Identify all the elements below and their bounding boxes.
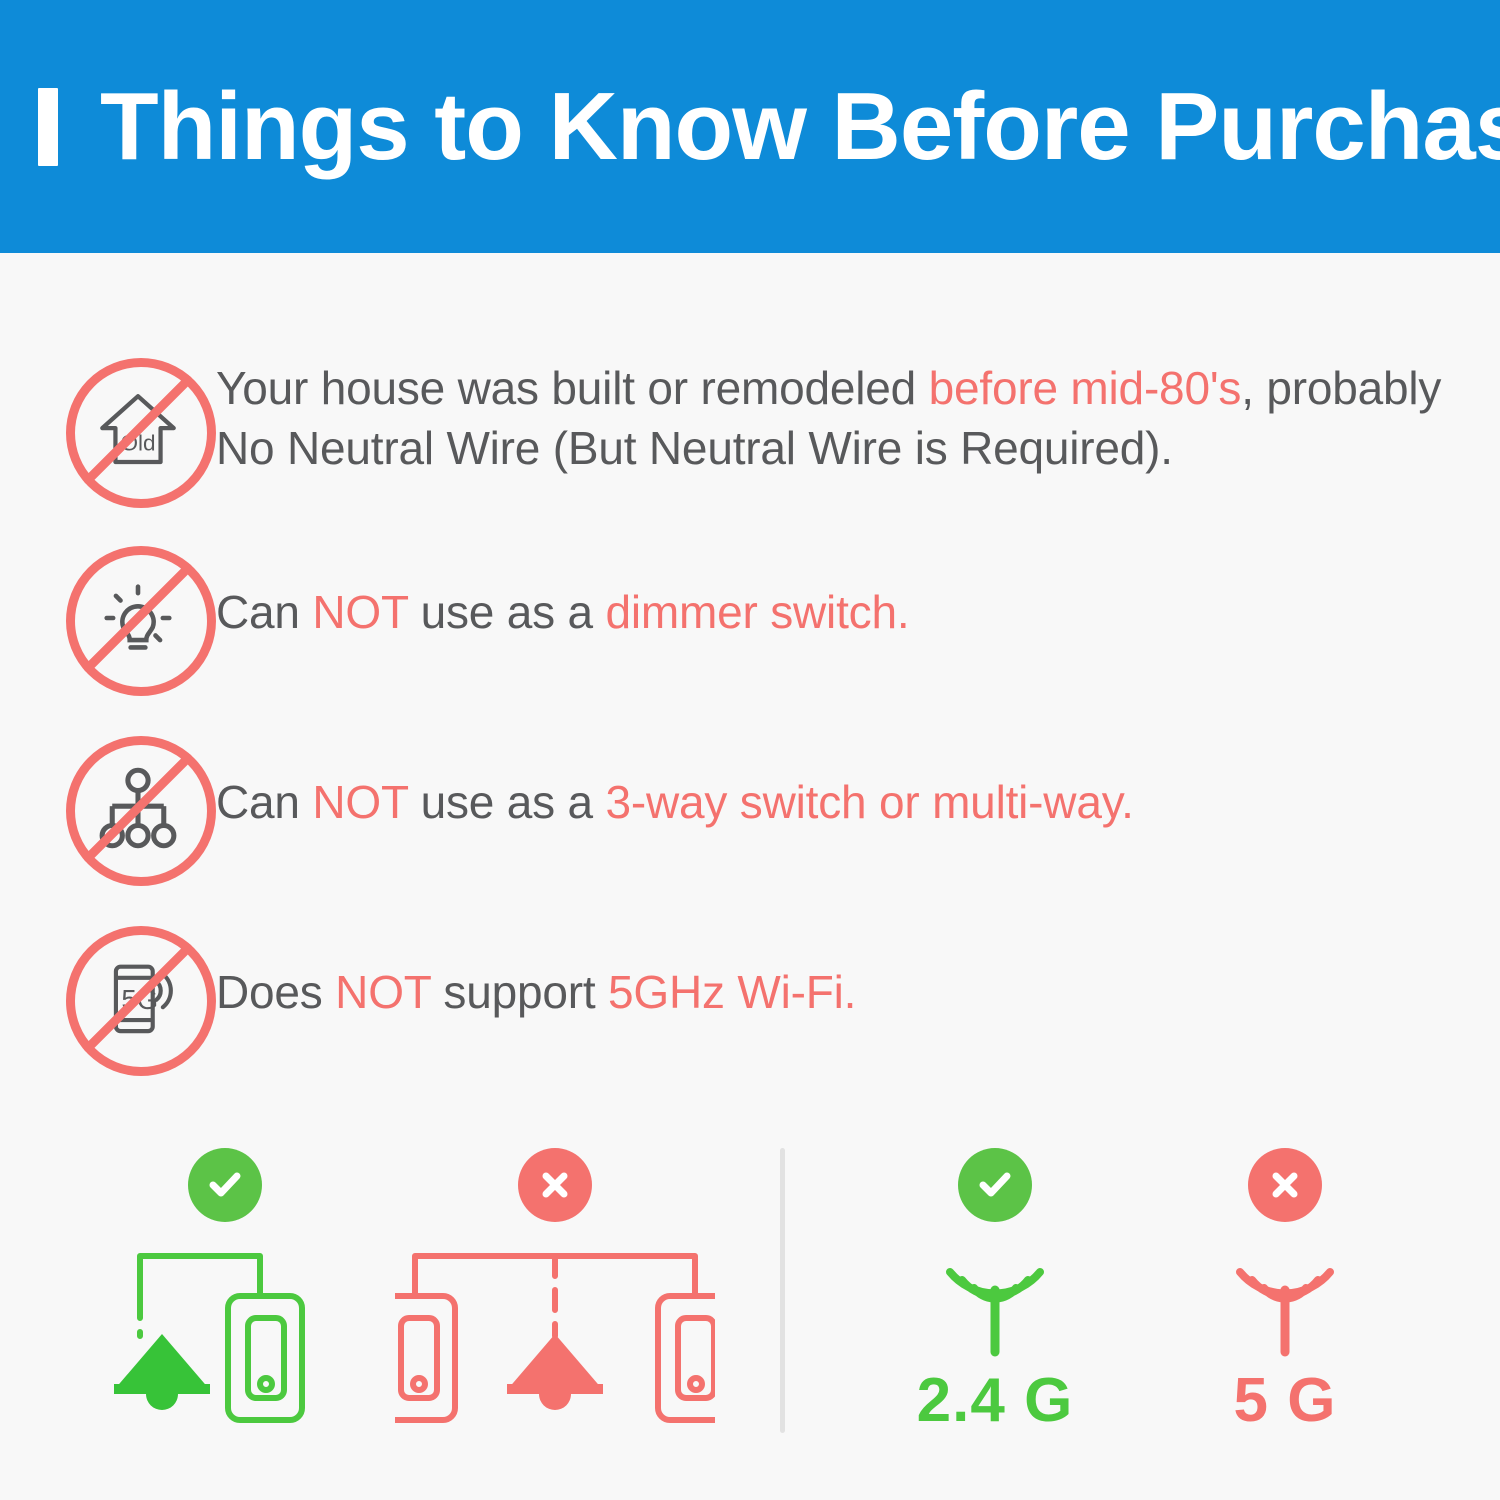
text-segment: Can: [216, 586, 312, 638]
wifi-24g-cell: 2.4 G: [880, 1148, 1110, 1432]
cross-circle-icon: [1248, 1148, 1322, 1222]
no-dimmer-bulb-icon: [60, 540, 216, 696]
prohibition-sign: [60, 352, 216, 508]
text-segment: Does: [216, 966, 335, 1018]
cross-glyph: [1263, 1163, 1307, 1207]
list-item-text: Your house was built or remodeled before…: [216, 352, 1460, 478]
broadcast-antenna-icon: [935, 1240, 1055, 1360]
text-segment: Can: [216, 776, 312, 828]
check-glyph: [203, 1163, 247, 1207]
three-way-wiring-svg: [395, 1238, 715, 1428]
no-5ghz-phone-icon: 5G: [60, 920, 216, 1076]
list-item: Can NOT use as a dimmer switch.: [0, 540, 1500, 696]
list-item-text: Does NOT support 5GHz Wi-Fi.: [216, 920, 1460, 1022]
wifi-band-label: 2.4 G: [917, 1370, 1074, 1432]
text-segment-highlight: dimmer switch.: [606, 586, 910, 638]
text-segment-highlight: NOT: [312, 586, 408, 638]
text-segment: support: [431, 966, 608, 1018]
list-item-text: Can NOT use as a dimmer switch.: [216, 540, 1460, 642]
no-multiway-hierarchy-icon: [60, 730, 216, 886]
prohibition-sign: [60, 730, 216, 886]
text-segment-highlight: before mid-80's: [929, 362, 1242, 414]
wifi-5g-cell: 5 G: [1170, 1148, 1400, 1432]
list-item: Old Your house was built or remodeled be…: [0, 352, 1500, 508]
prohibition-sign: [60, 920, 216, 1076]
requirements-list: Old Your house was built or remodeled be…: [0, 253, 1500, 1076]
single-pole-wiring-svg: [110, 1238, 340, 1428]
text-segment: use as a: [408, 776, 605, 828]
cross-glyph: [533, 1163, 577, 1207]
text-segment-highlight: NOT: [312, 776, 408, 828]
text-segment-highlight: 3-way switch or multi-way.: [606, 776, 1134, 828]
single-pole-switch-diagram: [100, 1148, 350, 1428]
comparison-section: 2.4 G 5 G: [0, 1130, 1500, 1460]
no-old-house-icon: Old: [60, 352, 216, 508]
text-segment-highlight: NOT: [335, 966, 431, 1018]
text-segment: use as a: [408, 586, 605, 638]
cross-circle-icon: [518, 1148, 592, 1222]
wifi-band-label: 5 G: [1234, 1370, 1337, 1432]
section-divider: [780, 1148, 785, 1433]
list-item-text: Can NOT use as a 3-way switch or multi-w…: [216, 730, 1460, 832]
prohibition-sign: [60, 540, 216, 696]
list-item: Can NOT use as a 3-way switch or multi-w…: [0, 730, 1500, 886]
broadcast-antenna-icon: [1225, 1240, 1345, 1360]
header-accent-bar: [38, 88, 58, 166]
check-glyph: [973, 1163, 1017, 1207]
check-circle-icon: [958, 1148, 1032, 1222]
page-header: Things to Know Before Purchase: [0, 0, 1500, 253]
page-title: Things to Know Before Purchase: [100, 79, 1500, 175]
check-circle-icon: [188, 1148, 262, 1222]
text-segment: Your house was built or remodeled: [216, 362, 929, 414]
text-segment-highlight: 5GHz Wi-Fi.: [608, 966, 856, 1018]
three-way-switch-diagram: [390, 1148, 720, 1428]
list-item: 5G Does NOT support 5GHz Wi-Fi.: [0, 920, 1500, 1076]
